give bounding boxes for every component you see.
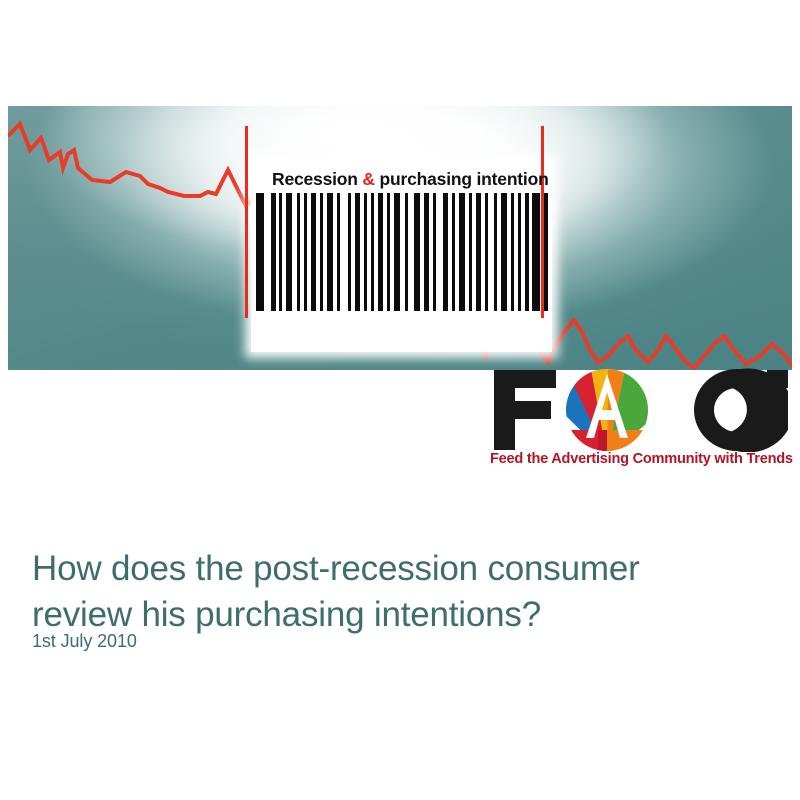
barcode-bar xyxy=(337,193,340,311)
barcode-bar xyxy=(387,193,390,311)
barcode-bar xyxy=(320,193,323,311)
barcode-bar xyxy=(414,193,420,311)
barcode-bar xyxy=(433,193,436,311)
barcode-bar xyxy=(355,193,360,311)
barcode-title-suffix: purchasing intention xyxy=(375,169,549,189)
barcode-graphic: Recession & purchasing intention xyxy=(245,160,558,352)
presentation-date: 1st July 2010 xyxy=(32,629,137,653)
fact-logo-mark xyxy=(490,368,788,452)
barcode-bar xyxy=(279,193,282,311)
barcode-bar xyxy=(327,193,333,311)
barcode-bar xyxy=(469,193,472,311)
barcode-bar xyxy=(424,193,429,311)
barcode-bar xyxy=(525,193,529,311)
logo-wedge-bottom-right xyxy=(607,430,650,452)
barcode-bar xyxy=(371,193,374,311)
fact-logo-tagline: Feed the Advertising Community with Tren… xyxy=(490,451,788,467)
barcode-bar xyxy=(364,193,367,311)
barcode-bar xyxy=(378,193,383,311)
barcode-bar xyxy=(286,193,292,311)
barcode-guard-bar-right-2 xyxy=(544,193,548,311)
barcode-title: Recession & purchasing intention xyxy=(272,164,530,194)
barcode-red-rule-left xyxy=(245,126,248,318)
barcode-bar xyxy=(348,193,351,311)
barcode-bar xyxy=(518,193,521,311)
recession-banner-image: Recession & purchasing intention xyxy=(8,106,792,370)
barcode-bar xyxy=(452,193,455,311)
barcode-bars xyxy=(253,193,549,311)
barcode-bar xyxy=(394,193,400,311)
barcode-bar xyxy=(501,193,507,311)
barcode-bar xyxy=(476,193,481,311)
page-title: How does the post-recession consumer rev… xyxy=(32,546,752,638)
barcode-guard-bar-right xyxy=(532,193,540,311)
barcode-title-ampersand: & xyxy=(362,169,374,189)
barcode-title-prefix: Recession xyxy=(272,169,362,189)
page-title-line-2: review his purchasing intentions? xyxy=(32,592,752,638)
barcode-bar xyxy=(485,193,488,311)
barcode-bar xyxy=(511,193,514,311)
barcode-bar xyxy=(494,193,497,311)
title-slide: Recession & purchasing intention xyxy=(0,0,800,800)
barcode-bar xyxy=(297,193,300,311)
logo-letter-a-colorwheel xyxy=(564,368,651,452)
barcode-guard-bar-left xyxy=(256,193,264,311)
fact-logo: Feed the Advertising Community with Tren… xyxy=(490,368,788,478)
logo-letter-f xyxy=(494,370,556,450)
barcode-bar xyxy=(311,193,316,311)
barcode-bar xyxy=(443,193,448,311)
page-title-line-1: How does the post-recession consumer xyxy=(32,549,640,588)
barcode-bar xyxy=(459,193,465,311)
barcode-bar xyxy=(304,193,307,311)
barcode-bar xyxy=(271,193,276,311)
barcode-bar xyxy=(405,193,408,311)
